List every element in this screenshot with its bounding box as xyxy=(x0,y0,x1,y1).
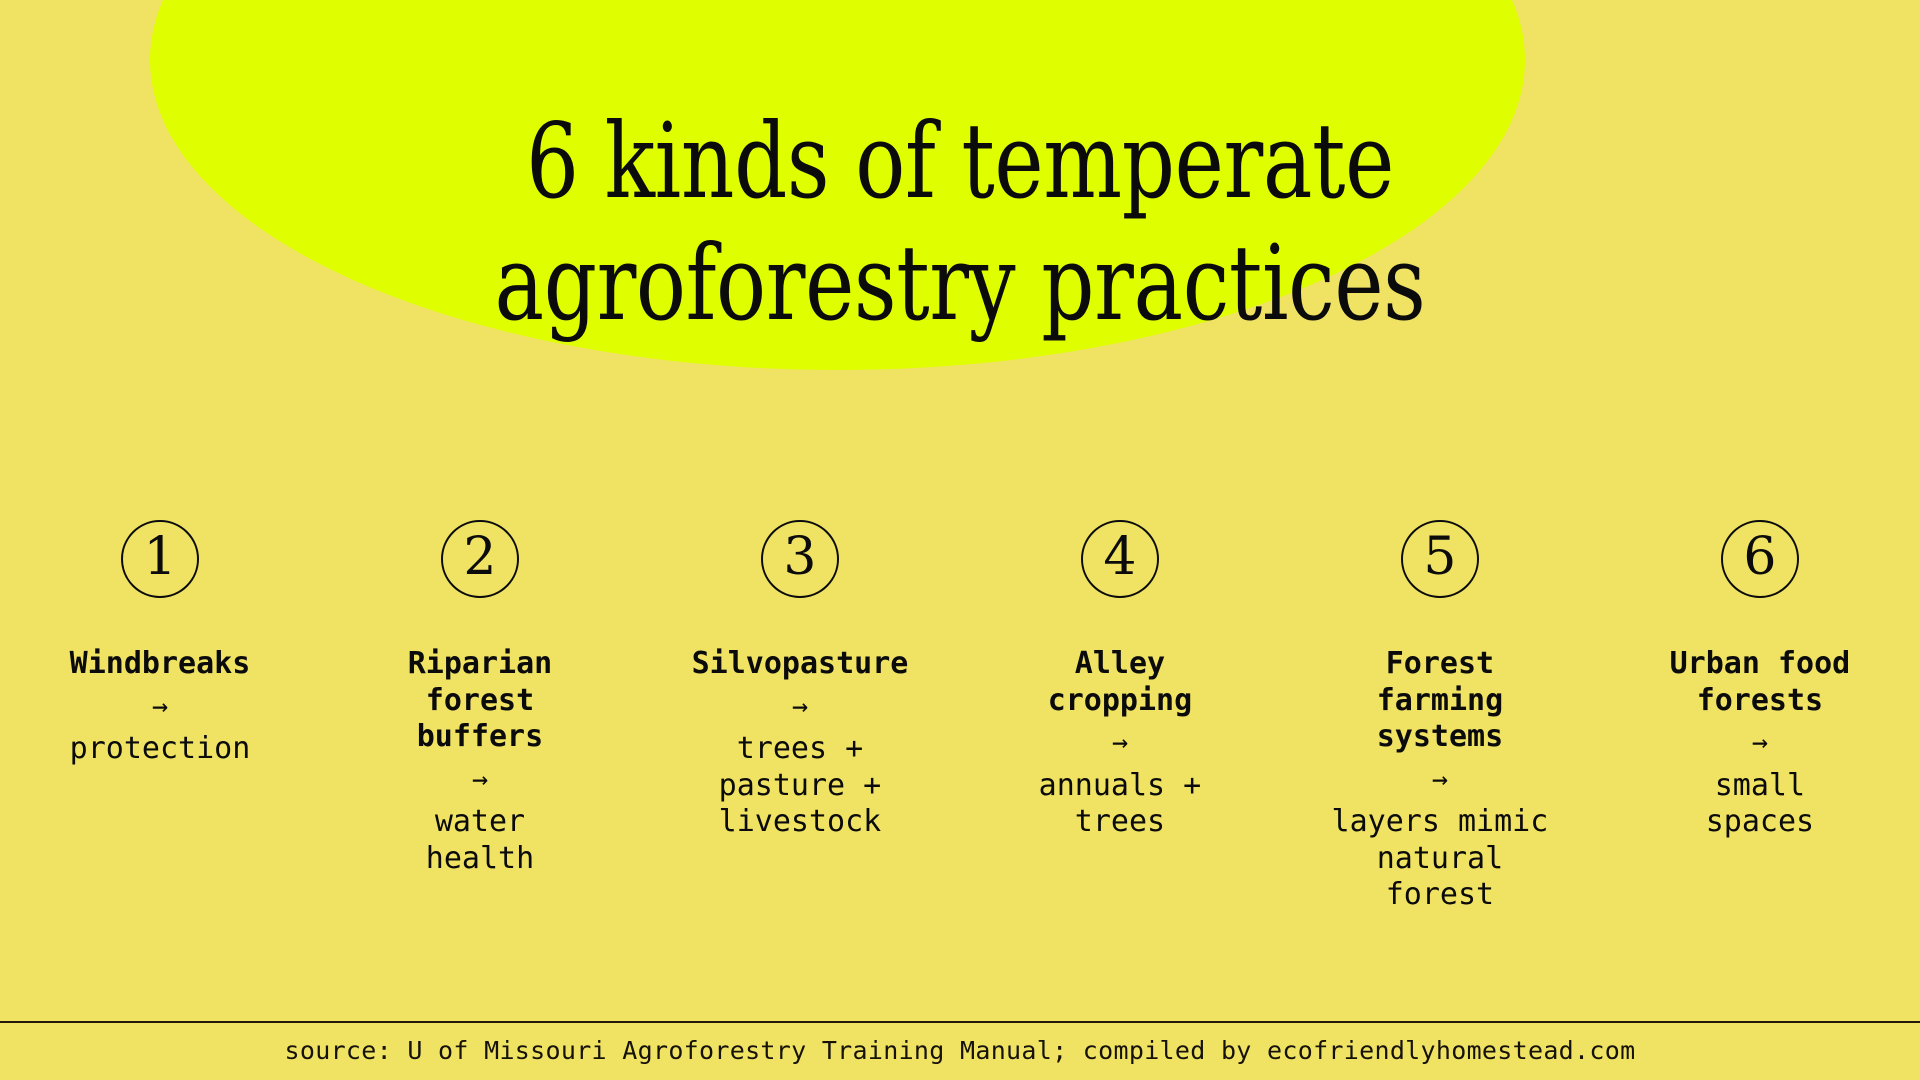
arrow-icon-5: → xyxy=(1432,762,1448,798)
number-badge-3: 3 xyxy=(761,520,839,598)
number-badge-1: 1 xyxy=(121,520,199,598)
practice-column-5: 5 Forest farming systems → layers mimic … xyxy=(1280,520,1600,914)
page-title: 6 kinds of temperate agroforestry practi… xyxy=(192,100,1728,345)
practice-column-1: 1 Windbreaks → protection xyxy=(0,520,320,768)
practice-title-4: Alley cropping xyxy=(1048,646,1193,719)
practice-title-2: Riparian forest buffers xyxy=(408,646,553,756)
practice-title-3: Silvopasture xyxy=(692,646,909,683)
number-badge-5: 5 xyxy=(1401,520,1479,598)
footer-source-text: source: U of Missouri Agroforestry Train… xyxy=(0,1036,1920,1066)
practice-column-3: 3 Silvopasture → trees + pasture + lives… xyxy=(640,520,960,841)
hero-section: 6 kinds of temperate agroforestry practi… xyxy=(0,0,1920,460)
practice-description-1: protection xyxy=(70,731,251,768)
number-badge-2: 2 xyxy=(441,520,519,598)
arrow-icon-6: → xyxy=(1752,725,1768,761)
number-badge-4: 4 xyxy=(1081,520,1159,598)
practice-description-4: annuals + trees xyxy=(1039,768,1202,841)
number-badge-6: 6 xyxy=(1721,520,1799,598)
practice-title-6: Urban food forests xyxy=(1670,646,1851,719)
footer-divider xyxy=(0,1021,1920,1023)
practice-title-1: Windbreaks xyxy=(70,646,251,683)
arrow-icon-3: → xyxy=(792,689,808,725)
practices-list: 1 Windbreaks → protection 2 Riparian for… xyxy=(0,520,1920,914)
arrow-icon-2: → xyxy=(472,762,488,798)
practice-column-4: 4 Alley cropping → annuals + trees xyxy=(960,520,1280,841)
arrow-icon-1: → xyxy=(152,689,168,725)
practice-title-5: Forest farming systems xyxy=(1377,646,1503,756)
practice-description-5: layers mimic natural forest xyxy=(1332,804,1549,914)
practice-description-6: small spaces xyxy=(1706,768,1814,841)
arrow-icon-4: → xyxy=(1112,725,1128,761)
practice-description-2: water health xyxy=(426,804,534,877)
practice-description-3: trees + pasture + livestock xyxy=(719,731,882,841)
practice-column-6: 6 Urban food forests → small spaces xyxy=(1600,520,1920,841)
practice-column-2: 2 Riparian forest buffers → water health xyxy=(320,520,640,877)
